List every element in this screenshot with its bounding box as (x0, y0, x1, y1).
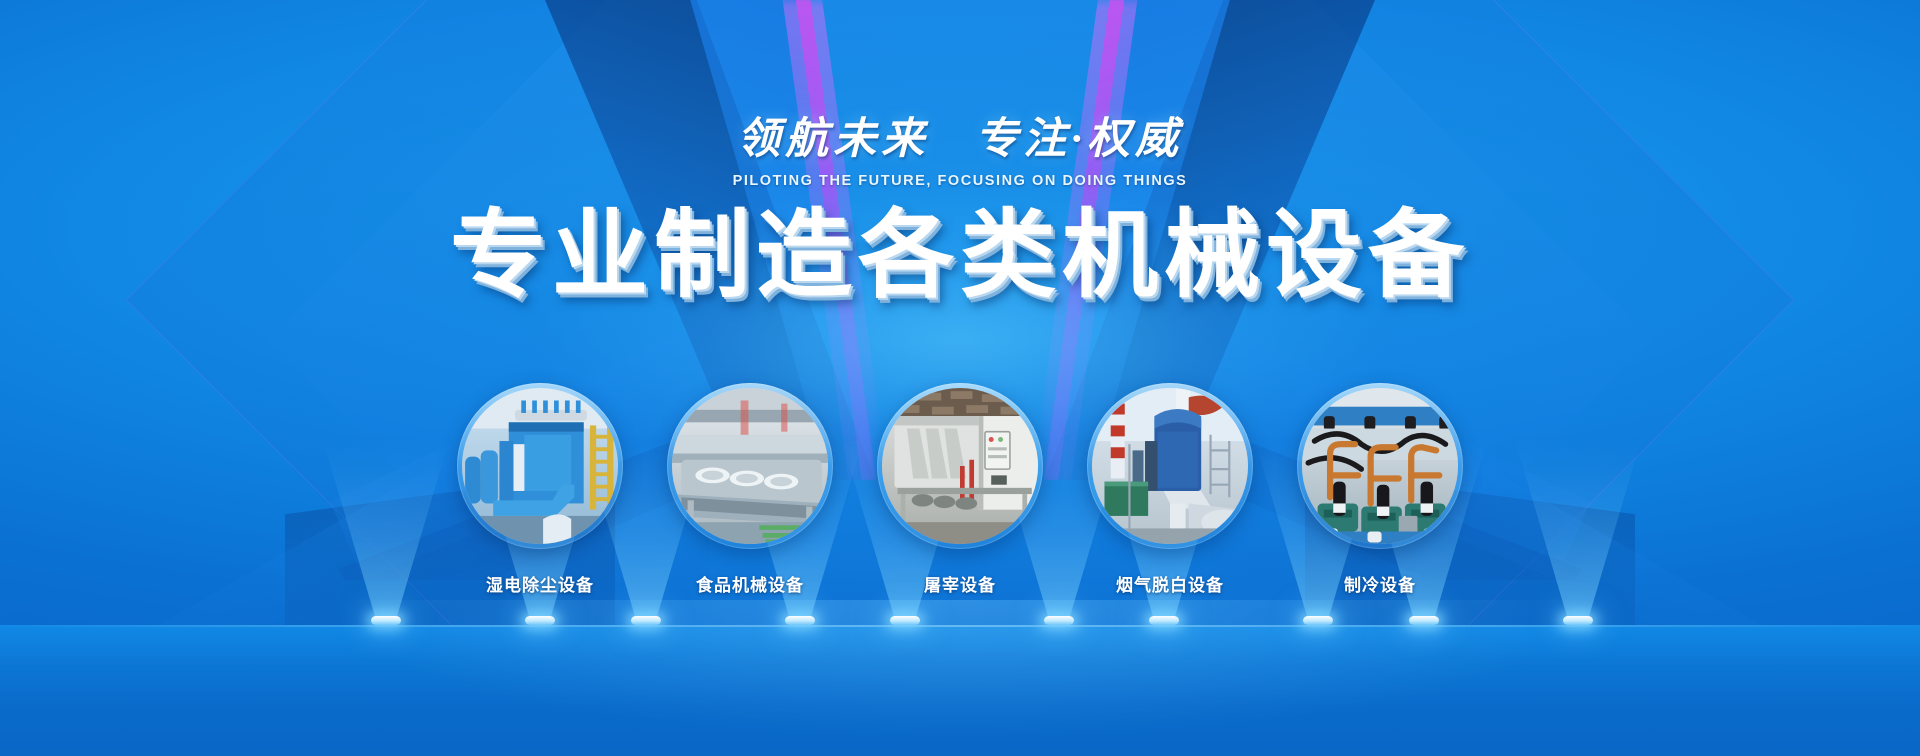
product-label: 湿电除尘设备 (486, 571, 594, 596)
food-machinery-photo (672, 388, 828, 544)
product-ring (667, 383, 833, 549)
product-label: 制冷设备 (1344, 571, 1416, 596)
product-card[interactable]: 食品机械设备 (667, 383, 833, 596)
product-label: 屠宰设备 (924, 571, 996, 596)
product-card[interactable]: 制冷设备 (1297, 383, 1463, 596)
product-label: 食品机械设备 (696, 571, 804, 596)
calligraphy-slogan: 领航未来 专注·权威 (0, 118, 1920, 161)
refrigeration-equipment-photo (1302, 388, 1458, 544)
product-card[interactable]: 屠宰设备 (877, 383, 1043, 596)
product-label: 烟气脱白设备 (1116, 571, 1224, 596)
product-card[interactable]: 湿电除尘设备 (457, 383, 623, 596)
product-card-row: 湿电除尘设备 (0, 383, 1920, 596)
slogan-left: 领航未来 (737, 118, 929, 161)
wet-electrostatic-precipitator-photo (462, 388, 618, 544)
headline-block: 领航未来 专注·权威 PILOTING THE FUTURE, FOCUSING… (0, 118, 1920, 309)
slogan-right: 专注·权威 (975, 118, 1183, 161)
product-ring (1087, 383, 1253, 549)
product-card[interactable]: 烟气脱白设备 (1087, 383, 1253, 596)
english-subtitle: PILOTING THE FUTURE, FOCUSING ON DOING T… (0, 173, 1920, 189)
product-ring (457, 383, 623, 549)
stage-floor (0, 625, 1920, 756)
flue-gas-dewhitening-photo (1092, 388, 1248, 544)
slaughtering-equipment-photo (882, 388, 1038, 544)
product-ring (1297, 383, 1463, 549)
product-ring (877, 383, 1043, 549)
promotional-banner: 领航未来 专注·权威 PILOTING THE FUTURE, FOCUSING… (0, 0, 1920, 756)
page-title: 专业制造各类机械设备 (0, 203, 1920, 309)
